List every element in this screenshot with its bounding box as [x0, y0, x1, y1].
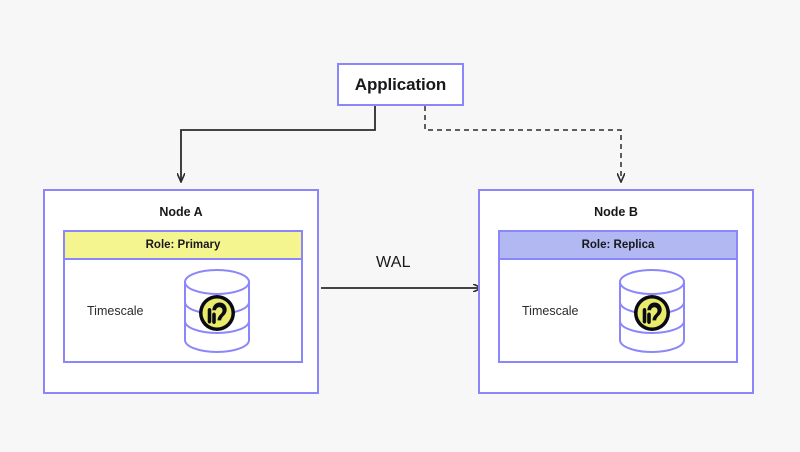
connector-app-to-primary: [181, 106, 375, 181]
node-a-title: Node A: [45, 205, 317, 219]
diagram-canvas: Application WAL Node A Role: Primary Tim…: [0, 0, 800, 452]
application-label: Application: [355, 75, 446, 95]
database-cylinder-icon: [616, 269, 688, 353]
node-a-inner-panel: Role: Primary Timescale: [63, 230, 303, 363]
node-a-role-bar: Role: Primary: [65, 232, 301, 260]
node-b-panel-body: Timescale: [500, 260, 736, 361]
node-b-box[interactable]: Node B Role: Replica Timescale: [478, 189, 754, 394]
node-b-role-bar: Role: Replica: [500, 232, 736, 260]
node-a-role-label: Role: Primary: [146, 239, 221, 251]
node-b-engine-label: Timescale: [522, 304, 579, 318]
node-a-box[interactable]: Node A Role: Primary Timescale: [43, 189, 319, 394]
node-b-inner-panel: Role: Replica Timescale: [498, 230, 738, 363]
application-box[interactable]: Application: [337, 63, 464, 106]
node-b-title: Node B: [480, 205, 752, 219]
database-cylinder-icon: [181, 269, 253, 353]
node-b-role-label: Role: Replica: [582, 239, 655, 251]
node-a-panel-body: Timescale: [65, 260, 301, 361]
connector-app-to-replica: [425, 106, 621, 181]
node-a-engine-label: Timescale: [87, 304, 144, 318]
wal-connector-label: WAL: [376, 254, 411, 272]
